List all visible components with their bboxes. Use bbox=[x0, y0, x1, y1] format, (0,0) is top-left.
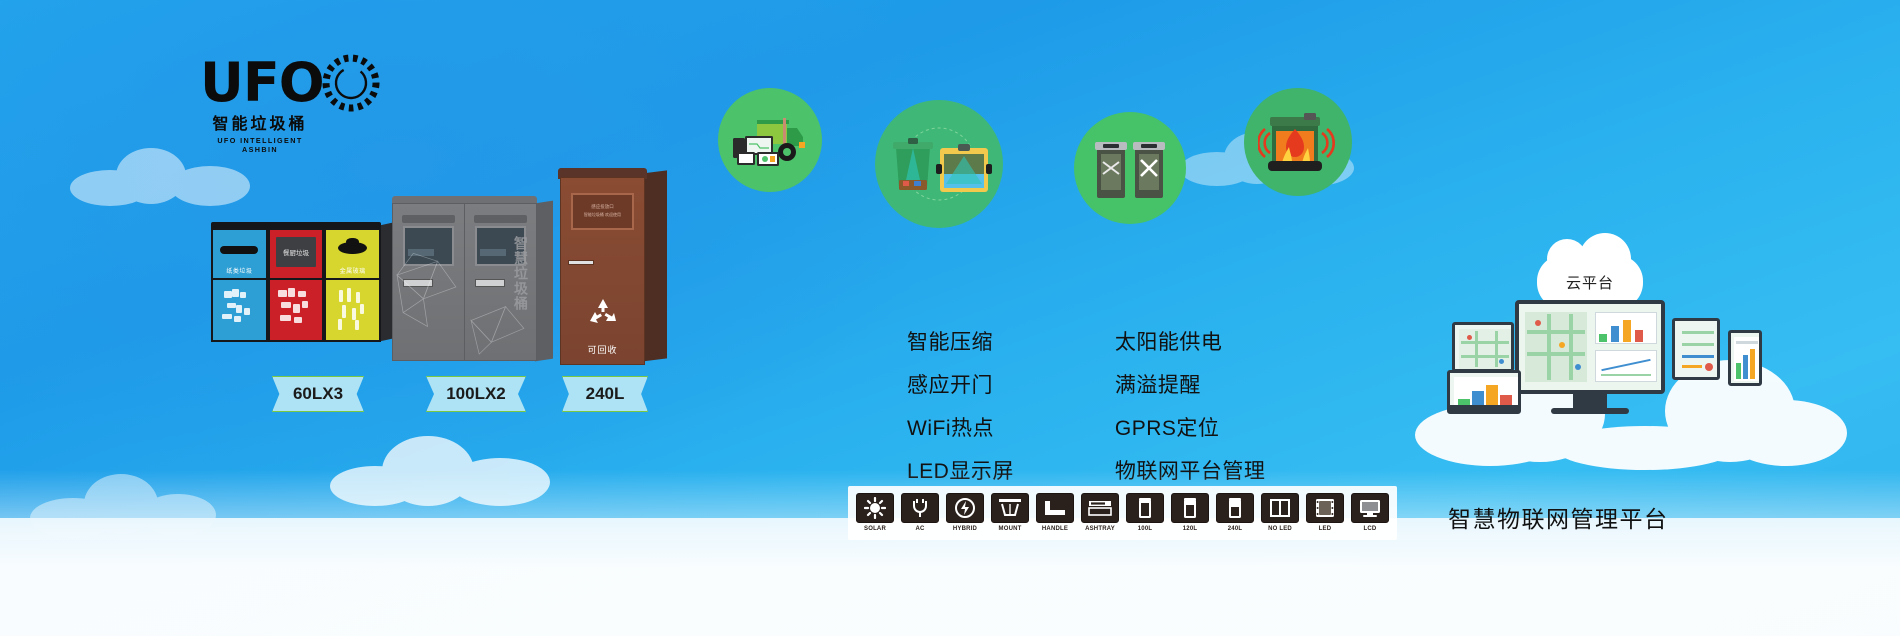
brown-screen-line1: 感应投放口 bbox=[573, 204, 632, 210]
monitor-icon bbox=[1078, 333, 1099, 349]
spec-item-100l[interactable]: 100L bbox=[1126, 493, 1164, 533]
compartment-kitchen-top: 餐厨垃圾 bbox=[270, 230, 323, 278]
grey-bin-vertical-text: 智慧垃圾桶 bbox=[513, 236, 529, 311]
no-led-icon bbox=[1261, 493, 1299, 523]
ashtray-icon bbox=[1081, 493, 1119, 523]
desktop-screen bbox=[1515, 300, 1665, 394]
tablet-right-screen bbox=[1675, 321, 1717, 377]
ribbon-text: 240L bbox=[586, 384, 625, 404]
spec-item-lcd[interactable]: LCD bbox=[1351, 493, 1389, 533]
spec-caption: LED bbox=[1306, 525, 1344, 533]
grey-bin-side-panel bbox=[535, 201, 553, 362]
spec-item-solar[interactable]: SOLAR bbox=[856, 493, 894, 533]
kitchen-panel-icon: 餐厨垃圾 bbox=[276, 237, 316, 267]
wall-mount-icon bbox=[991, 493, 1029, 523]
compartment-metal-glass: 金属玻璃 bbox=[324, 228, 381, 342]
logo-wordmark: UFO bbox=[200, 56, 324, 110]
compartment-kitchen-label: 餐厨垃圾 bbox=[276, 247, 316, 257]
feature-label: 感应开门 bbox=[907, 369, 993, 399]
feature-label: 太阳能供电 bbox=[1115, 326, 1223, 356]
feature-column-right: 太阳能供电 满溢提醒 GPRS定位 物联网平台管理 bbox=[1078, 326, 1266, 485]
compartment-metal-label: 金属玻璃 bbox=[326, 266, 379, 275]
platform-tablet-left bbox=[1452, 322, 1514, 372]
product-brown-recycle-bin: 感应投放口 智能垃圾桶 欢迎使用 可回收 bbox=[560, 168, 645, 364]
spec-caption: 100L bbox=[1126, 525, 1164, 533]
compartment-kitchen: 餐厨垃圾 bbox=[268, 228, 325, 342]
platform-laptop bbox=[1447, 370, 1521, 414]
brown-bin-card-slot bbox=[568, 260, 595, 266]
ribbon-text: 100LX2 bbox=[446, 384, 506, 404]
monitor-icon bbox=[870, 376, 891, 392]
spec-caption: AC bbox=[901, 525, 939, 533]
bin-240l-icon bbox=[1216, 493, 1254, 523]
ribbon-label-240l: 240L bbox=[562, 376, 648, 412]
brown-bin-label: 可回收 bbox=[561, 343, 644, 356]
ribbon-label-60lx3: 60LX3 bbox=[272, 376, 364, 412]
paper-slot-icon bbox=[220, 246, 258, 254]
sun-icon bbox=[856, 493, 894, 523]
logo-chinese-name: 智能垃圾桶 bbox=[200, 116, 320, 134]
monitor-icon bbox=[1078, 376, 1099, 392]
brown-screen-line2: 智能垃圾桶 欢迎使用 bbox=[573, 212, 632, 218]
compartment-paper-label: 纸类垃圾 bbox=[213, 266, 266, 275]
monitor-icon bbox=[870, 333, 891, 349]
spec-item-led[interactable]: LED bbox=[1306, 493, 1344, 533]
bin-100l-icon bbox=[1126, 493, 1164, 523]
spec-caption: 120L bbox=[1171, 525, 1209, 533]
spec-item-ac[interactable]: AC bbox=[901, 493, 939, 533]
feature-item: WiFi热点 bbox=[870, 412, 1014, 442]
bin-side-panel bbox=[379, 223, 393, 342]
monitor-icon bbox=[870, 419, 891, 435]
dashboard-map bbox=[1519, 304, 1661, 390]
badge-fire-alarm bbox=[1244, 88, 1352, 196]
feature-item: 感应开门 bbox=[870, 369, 1014, 399]
bin-120l-icon bbox=[1171, 493, 1209, 523]
feature-column-left: 智能压缩 感应开门 WiFi热点 LED显示屏 bbox=[870, 326, 1014, 485]
platform-phone bbox=[1728, 330, 1762, 386]
platform-desktop-monitor bbox=[1515, 300, 1665, 414]
compartment-paper-top: 纸类垃圾 bbox=[213, 230, 266, 278]
spec-item-240l[interactable]: 240L bbox=[1216, 493, 1254, 533]
compartment-paper: 纸类垃圾 bbox=[211, 228, 268, 342]
spec-item-mount[interactable]: MOUNT bbox=[991, 493, 1029, 533]
compartment-kitchen-graphic bbox=[270, 278, 323, 340]
spec-caption: ASHTRAY bbox=[1081, 525, 1119, 533]
badge-collection-fleet bbox=[718, 88, 822, 192]
recycle-icon bbox=[586, 297, 620, 327]
brown-bin-body: 感应投放口 智能垃圾桶 欢迎使用 可回收 bbox=[560, 177, 645, 365]
compartment-metal-top: 金属玻璃 bbox=[326, 230, 379, 278]
brown-bin-screen: 感应投放口 智能垃圾桶 欢迎使用 bbox=[571, 193, 634, 230]
spec-caption: NO LED bbox=[1261, 525, 1299, 533]
feature-label: 智能压缩 bbox=[907, 326, 993, 356]
power-plug-icon bbox=[901, 493, 939, 523]
brand-logo: UFO 智能垃圾桶 UFO INTELLIGENT ASHBIN bbox=[200, 52, 320, 154]
feature-item: 智能压缩 bbox=[870, 326, 1014, 356]
feature-list: 智能压缩 感应开门 WiFi热点 LED显示屏 太阳能供电 满溢提醒 bbox=[870, 326, 1265, 485]
cloud-platform-text: 云平台 bbox=[1566, 272, 1614, 293]
badge-compaction bbox=[1074, 112, 1186, 224]
ribbon-text: 60LX3 bbox=[293, 384, 343, 404]
feature-item: 太阳能供电 bbox=[1078, 326, 1266, 356]
spec-item-handle[interactable]: HANDLE bbox=[1036, 493, 1074, 533]
lcd-screen-icon bbox=[1351, 493, 1389, 523]
feature-label: 满溢提醒 bbox=[1115, 369, 1201, 399]
phone-screen bbox=[1731, 333, 1759, 383]
tablet-left-screen bbox=[1455, 325, 1511, 369]
spec-item-hybrid[interactable]: HYBRID bbox=[946, 493, 984, 533]
handle-icon bbox=[1036, 493, 1074, 523]
monitor-icon bbox=[1078, 419, 1099, 435]
feature-label: WiFi热点 bbox=[907, 412, 994, 442]
dashed-ring-icon bbox=[322, 54, 380, 112]
badge-fill-sensing bbox=[875, 100, 1003, 228]
spec-caption: HYBRID bbox=[946, 525, 984, 533]
platform-tablet-right bbox=[1672, 318, 1720, 380]
feature-item: GPRS定位 bbox=[1078, 412, 1266, 442]
logo-wordmark-row: UFO bbox=[200, 52, 320, 114]
spec-caption: SOLAR bbox=[856, 525, 894, 533]
laptop-screen bbox=[1450, 373, 1518, 411]
spec-item-120l[interactable]: 120L bbox=[1171, 493, 1209, 533]
ribbon-label-100lx2: 100LX2 bbox=[426, 376, 526, 412]
banner-stage: UFO 智能垃圾桶 UFO INTELLIGENT ASHBIN 纸类垃圾 bbox=[0, 0, 1900, 636]
spec-caption: LCD bbox=[1351, 525, 1389, 533]
spec-caption: 240L bbox=[1216, 525, 1254, 533]
spec-item-no-led[interactable]: NO LED bbox=[1261, 493, 1299, 533]
led-panel-icon bbox=[1306, 493, 1344, 523]
spec-caption: MOUNT bbox=[991, 525, 1029, 533]
logo-english-name: UFO INTELLIGENT ASHBIN bbox=[200, 136, 320, 154]
hybrid-power-icon bbox=[946, 493, 984, 523]
monitor-stand bbox=[1573, 394, 1607, 408]
compartment-paper-graphic bbox=[213, 278, 266, 340]
bin-compartment-row: 纸类垃圾 餐厨垃圾 bbox=[211, 228, 381, 342]
spec-caption: HANDLE bbox=[1036, 525, 1074, 533]
compartment-metal-graphic bbox=[326, 278, 379, 340]
spec-icon-strip: SOLAR AC HYBRID bbox=[848, 486, 1397, 540]
feature-item: 满溢提醒 bbox=[1078, 369, 1266, 399]
feature-label: GPRS定位 bbox=[1115, 412, 1220, 442]
spec-item-ashtray[interactable]: ASHTRAY bbox=[1081, 493, 1119, 533]
platform-caption: 智慧物联网管理平台 bbox=[1448, 500, 1669, 534]
product-three-compartment-bin: 纸类垃圾 餐厨垃圾 bbox=[211, 222, 381, 342]
grey-bin-door-left bbox=[393, 204, 465, 360]
monitor-base bbox=[1551, 408, 1629, 414]
product-smart-grey-bin: 智慧垃圾桶 bbox=[392, 196, 537, 361]
